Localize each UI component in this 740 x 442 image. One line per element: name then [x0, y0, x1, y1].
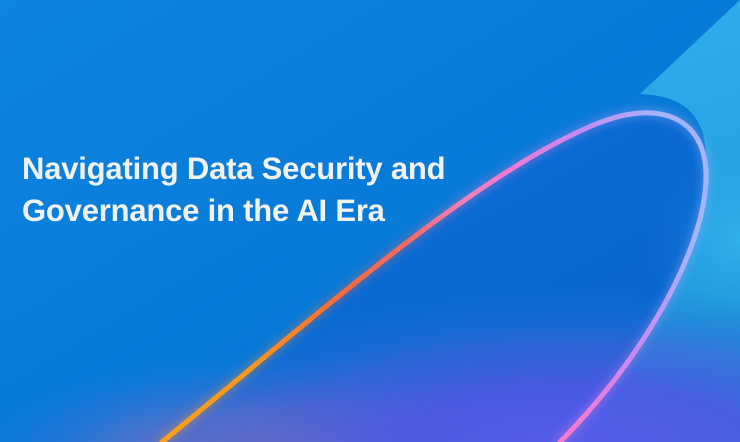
title-block: Navigating Data Security and Governance … — [22, 148, 462, 232]
title-slide: Navigating Data Security and Governance … — [0, 0, 740, 442]
page-title: Navigating Data Security and Governance … — [22, 148, 462, 232]
